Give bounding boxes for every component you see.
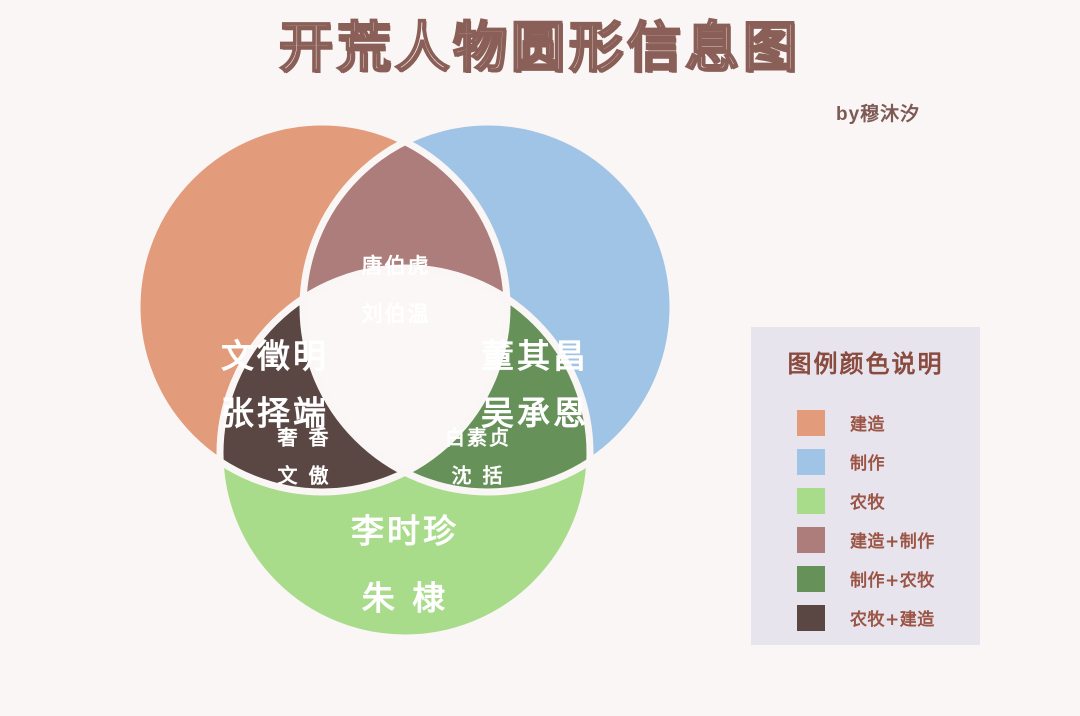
- author-byline: by穆沐汐: [836, 99, 920, 126]
- legend-item[interactable]: 建造+制作: [751, 520, 980, 559]
- infographic-canvas: 开荒人物圆形信息图 by穆沐汐: [0, 0, 1080, 716]
- legend-label: 建造: [850, 410, 885, 435]
- page-title: 开荒人物圆形信息图: [0, 18, 1080, 77]
- legend-list: 建造制作农牧建造+制作制作+农牧农牧+建造: [751, 403, 980, 637]
- legend-swatch: [797, 410, 825, 436]
- legend-item[interactable]: 制作+农牧: [751, 559, 980, 598]
- legend-label: 制作: [850, 449, 885, 474]
- legend-panel: 图例颜色说明 建造制作农牧建造+制作制作+农牧农牧+建造: [751, 327, 980, 645]
- venn-label-farm-1: 李时珍: [351, 512, 459, 551]
- venn-label-top-overlap-2: 刘伯温: [362, 302, 431, 326]
- venn-label-build-1: 文徵明: [221, 337, 329, 376]
- venn-label-right-overlap-1: 白素贞: [445, 426, 511, 450]
- legend-label: 农牧: [850, 488, 885, 513]
- venn-label-left-overlap-1: 奢 香: [277, 426, 331, 450]
- legend-swatch: [797, 566, 825, 592]
- legend-title: 图例颜色说明: [751, 344, 980, 379]
- legend-item[interactable]: 农牧: [751, 481, 980, 520]
- venn-svg: 文徵明 张择端 董其昌 吴承恩 李时珍 朱 棣 唐伯虎 刘伯温 奢 香 文 傲 …: [95, 100, 715, 660]
- venn-label-top-overlap-1: 唐伯虎: [362, 254, 431, 278]
- venn-label-left-overlap-2: 文 傲: [278, 464, 331, 488]
- legend-label: 农牧+建造: [850, 605, 935, 630]
- venn-label-right-overlap-2: 沈 括: [452, 464, 505, 488]
- legend-item[interactable]: 建造: [751, 403, 980, 442]
- legend-swatch: [797, 488, 825, 514]
- venn-label-farm-2: 朱 棣: [362, 579, 449, 618]
- legend-item[interactable]: 农牧+建造: [751, 598, 980, 637]
- legend-swatch: [797, 449, 825, 475]
- legend-item[interactable]: 制作: [751, 442, 980, 481]
- venn-diagram: 文徵明 张择端 董其昌 吴承恩 李时珍 朱 棣 唐伯虎 刘伯温 奢 香 文 傲 …: [95, 100, 715, 660]
- legend-swatch: [797, 527, 825, 553]
- venn-label-craft-1: 董其昌: [481, 337, 589, 376]
- legend-swatch: [797, 605, 825, 631]
- legend-label: 制作+农牧: [850, 566, 935, 591]
- legend-label: 建造+制作: [850, 527, 935, 552]
